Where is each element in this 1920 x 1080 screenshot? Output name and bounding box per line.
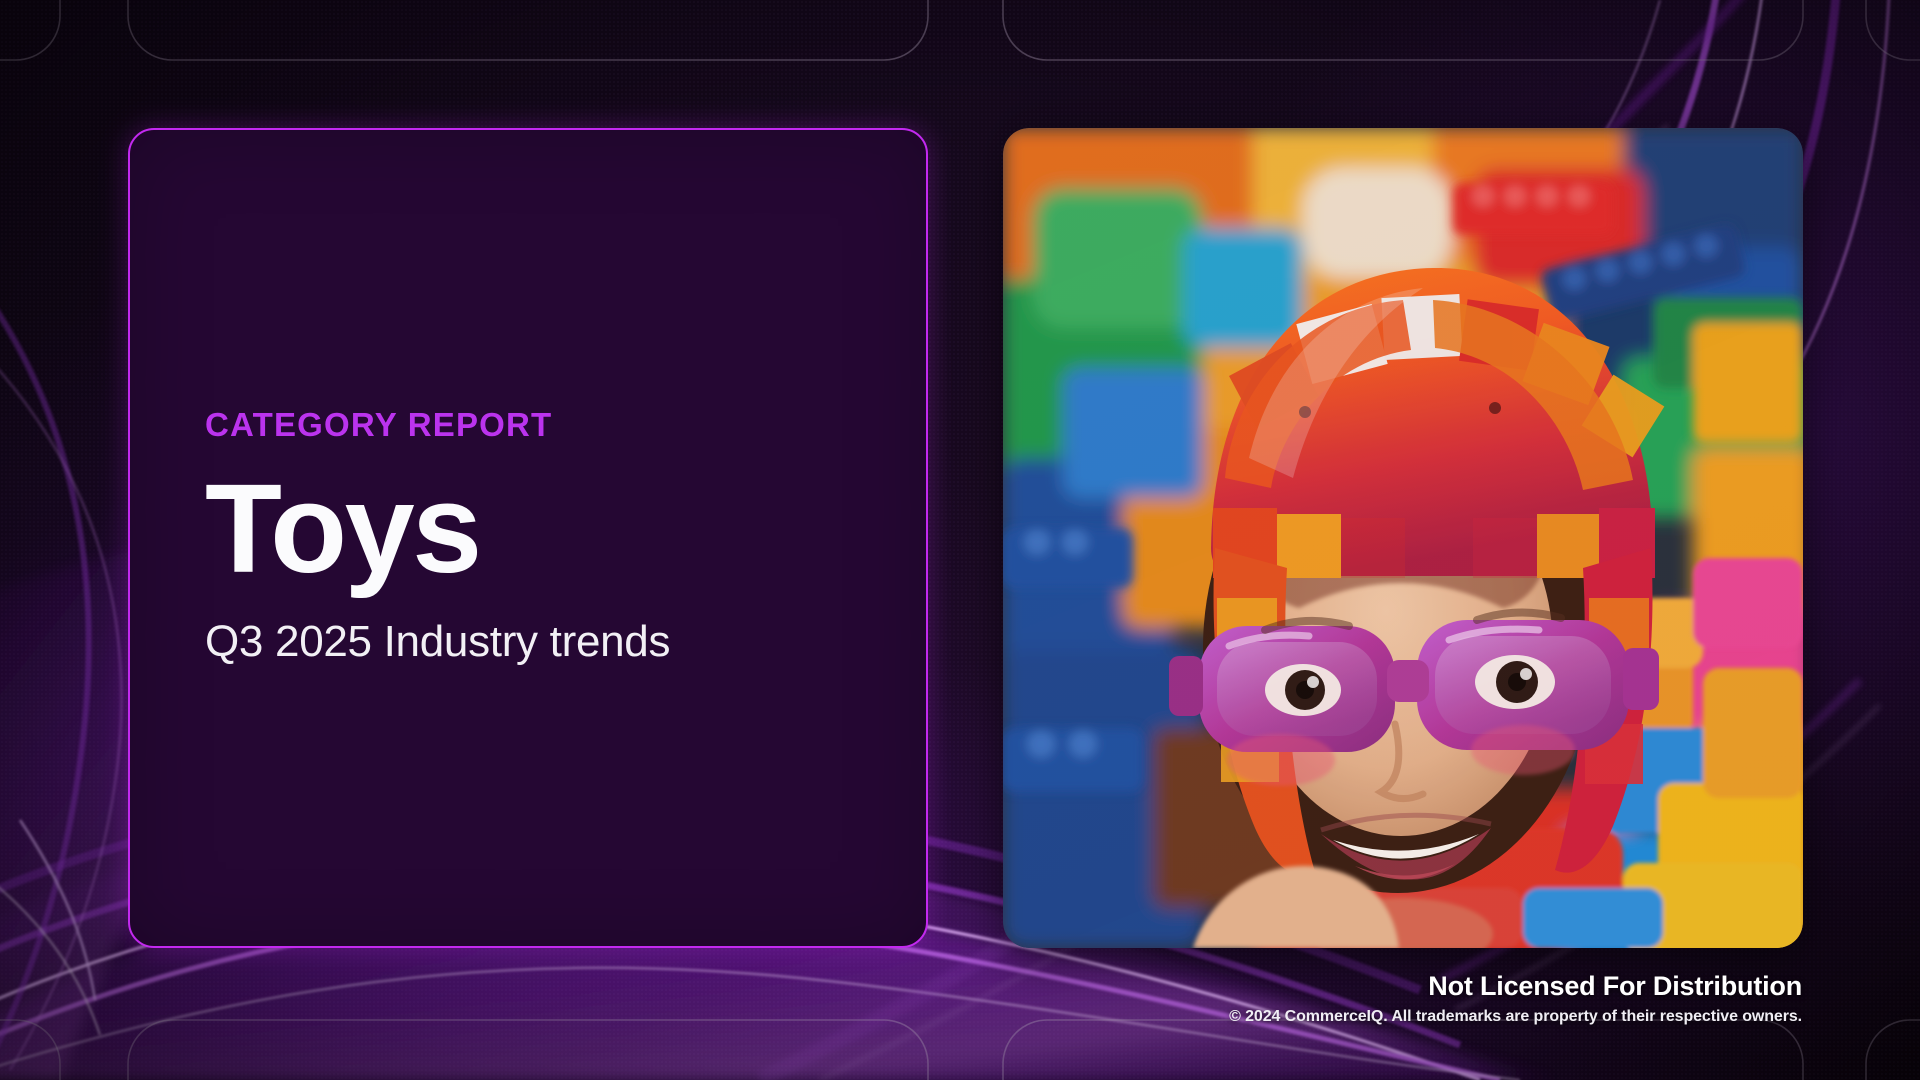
- hero-photo: [1003, 128, 1803, 948]
- title-card: CATEGORY REPORT Toys Q3 2025 Industry tr…: [128, 128, 928, 948]
- report-cover-slide: CATEGORY REPORT Toys Q3 2025 Industry tr…: [0, 0, 1920, 1080]
- license-notice: Not Licensed For Distribution: [1229, 970, 1802, 1004]
- page-subtitle: Q3 2025 Industry trends: [205, 616, 876, 669]
- hero-photo-illustration: [1003, 128, 1803, 948]
- category-report-eyebrow: CATEGORY REPORT: [205, 407, 876, 443]
- copyright-notice: © 2024 CommerceIQ. All trademarks are pr…: [1229, 1006, 1802, 1028]
- footer: Not Licensed For Distribution © 2024 Com…: [1229, 970, 1802, 1028]
- page-title: Toys: [205, 465, 876, 594]
